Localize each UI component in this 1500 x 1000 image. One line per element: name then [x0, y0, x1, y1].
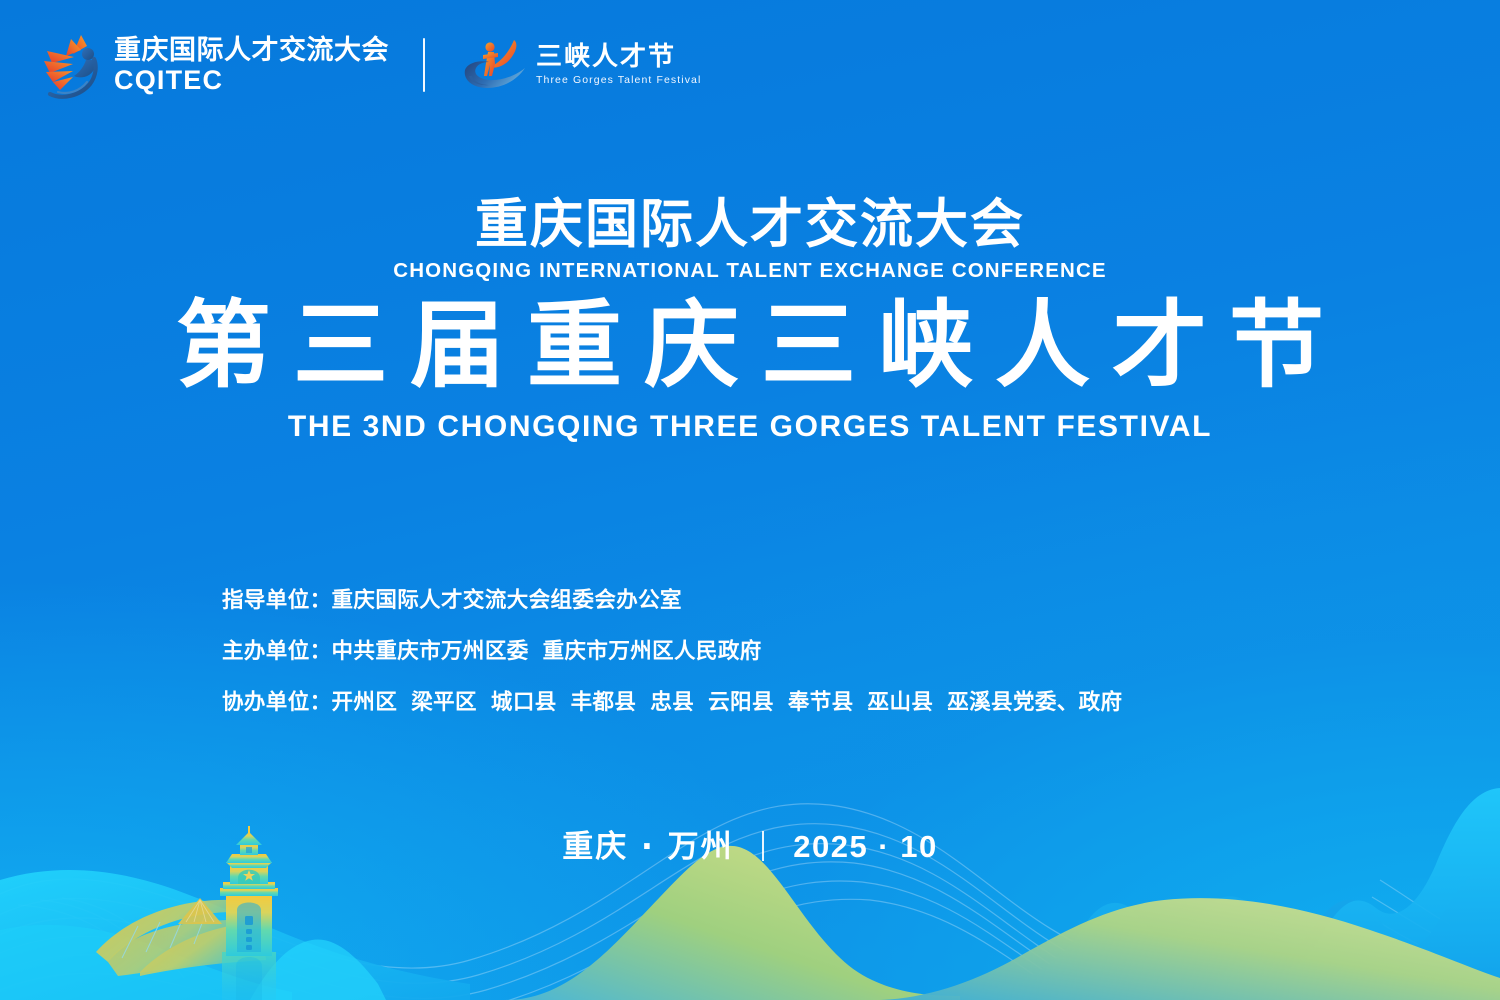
- footer-place: 重庆 · 万州: [562, 829, 733, 865]
- phoenix-wing-figure-logo: [40, 30, 106, 100]
- organiser-value: 巫溪县党委、政府: [947, 690, 1122, 715]
- secondary-logo[interactable]: 三峡人才节 Three Gorges Talent Festival: [459, 36, 701, 94]
- organiser-value: 重庆市万州区人民政府: [543, 639, 762, 664]
- conference-title-en: CHONGQING INTERNATIONAL TALENT EXCHANGE …: [0, 259, 1500, 283]
- footer-separator: [762, 831, 764, 861]
- organiser-value: 开州区: [332, 690, 398, 715]
- mountain-green-main: [505, 846, 960, 1000]
- footer-date: 2025 · 10: [793, 829, 938, 864]
- organiser-label: 协办单位：: [222, 690, 332, 715]
- festival-title-en: THE 3ND CHONGQING THREE GORGES TALENT FE…: [0, 410, 1500, 444]
- organiser-value: 丰都县: [571, 690, 637, 715]
- organiser-value: 巫山县: [868, 690, 934, 715]
- organiser-value: 梁平区: [411, 690, 477, 715]
- organiser-value: 中共重庆市万州区委: [332, 639, 529, 664]
- primary-logo[interactable]: 重庆国际人才交流大会 CQITEC: [40, 30, 389, 100]
- secondary-logo-cn: 三峡人才节: [536, 44, 701, 70]
- logo-bar: 重庆国际人才交流大会 CQITEC: [40, 27, 701, 103]
- organiser-value: 云阳县: [708, 690, 774, 715]
- primary-logo-cn: 重庆国际人才交流大会: [114, 37, 389, 64]
- title-group: 重庆国际人才交流大会 CHONGQING INTERNATIONAL TALEN…: [0, 196, 1500, 444]
- organiser-row-coorganiser: 协办单位：开州区梁平区城口县丰都县忠县云阳县奉节县巫山县巫溪县党委、政府: [222, 685, 1122, 716]
- primary-logo-acronym: CQITEC: [114, 67, 389, 94]
- organiser-value: 重庆国际人才交流大会组委会办公室: [332, 588, 682, 613]
- organiser-value: 奉节县: [788, 690, 854, 715]
- poster-canvas: 重庆国际人才交流大会 CQITEC: [0, 0, 1500, 1000]
- logo-divider: [423, 38, 425, 92]
- figure-on-wave-logo: [459, 36, 529, 94]
- organiser-label: 主办单位：: [222, 639, 332, 664]
- footer-dateline: 重庆 · 万州 2025 · 10: [0, 821, 1500, 866]
- conference-title-cn: 重庆国际人才交流大会: [0, 196, 1500, 253]
- secondary-logo-en: Three Gorges Talent Festival: [536, 75, 701, 86]
- organiser-value: 城口县: [491, 690, 557, 715]
- organiser-value: 忠县: [650, 690, 694, 715]
- organiser-label: 指导单位：: [222, 588, 332, 613]
- organiser-row-guidance: 指导单位：重庆国际人才交流大会组委会办公室: [222, 583, 1122, 614]
- organiser-list: 指导单位：重庆国际人才交流大会组委会办公室 主办单位：中共重庆市万州区委重庆市万…: [222, 583, 1122, 716]
- festival-title-cn: 第三届重庆三峡人才节: [0, 295, 1500, 398]
- organiser-row-host: 主办单位：中共重庆市万州区委重庆市万州区人民政府: [222, 634, 1122, 665]
